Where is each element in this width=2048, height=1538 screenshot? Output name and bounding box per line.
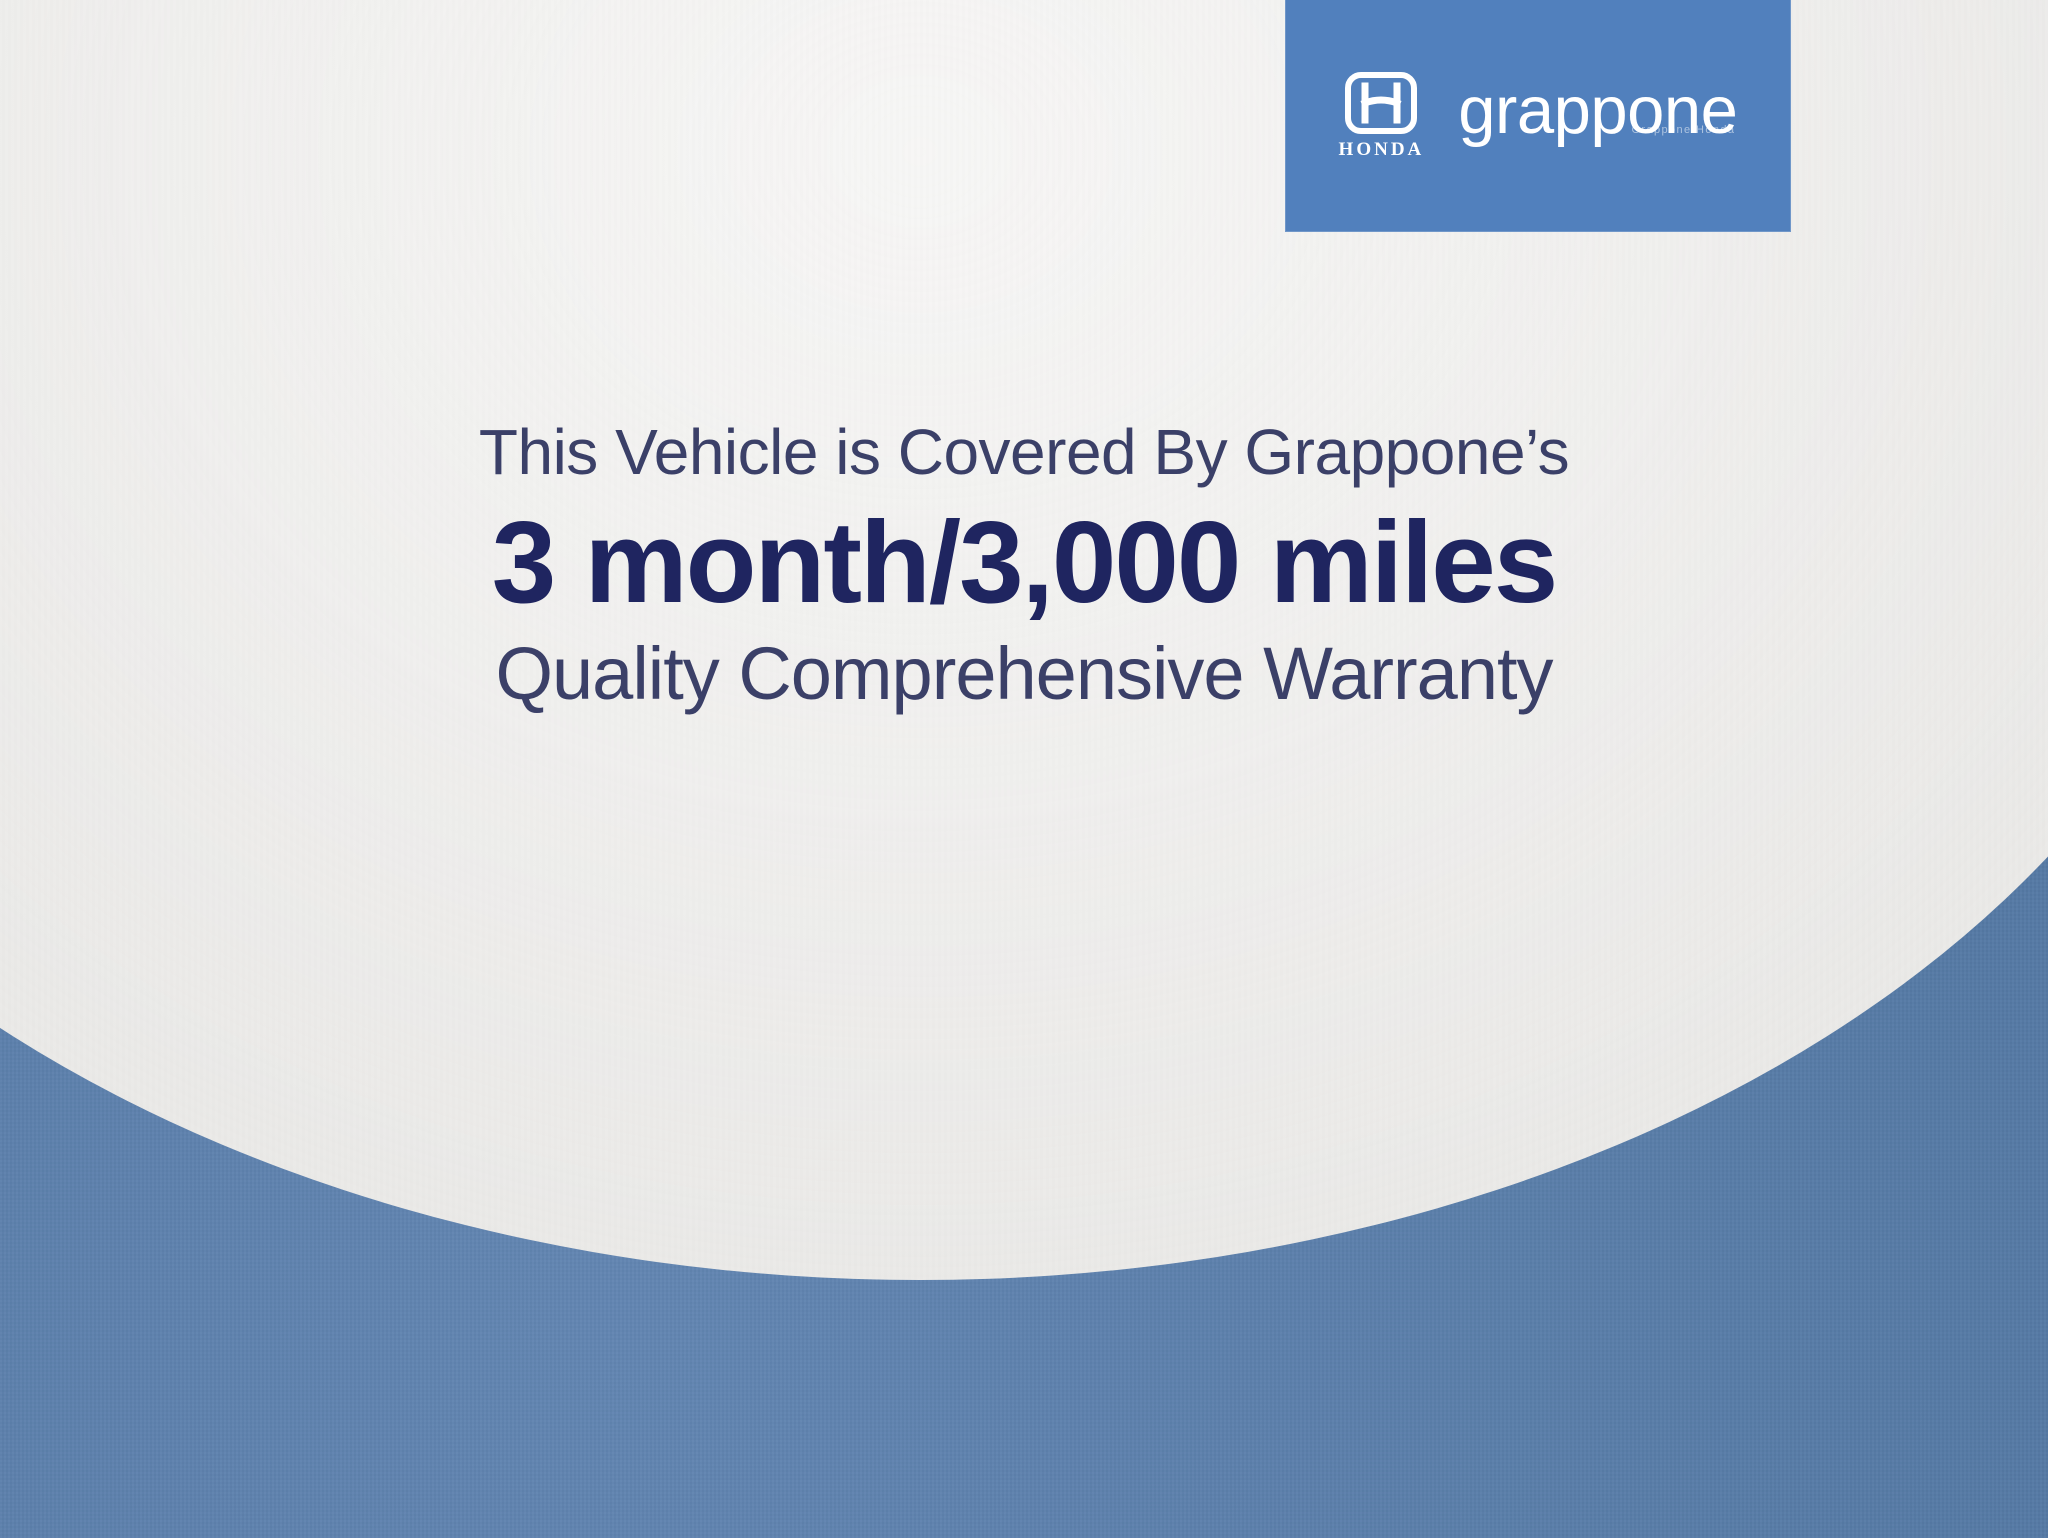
message-footline: Quality Comprehensive Warranty	[60, 634, 1988, 714]
grappone-brand-mark: grappone Grappone Honda	[1458, 80, 1737, 142]
dealer-logo-badge: HONDA grappone Grappone Honda	[1285, 0, 1791, 232]
warranty-banner: HONDA grappone Grappone Honda This Vehic…	[0, 0, 2048, 1538]
honda-brand-mark: HONDA	[1339, 72, 1425, 159]
warranty-message-block: This Vehicle is Covered By Grappone’s 3 …	[0, 418, 2048, 714]
message-headline: 3 month/3,000 miles	[60, 501, 1988, 624]
honda-wordmark: HONDA	[1339, 140, 1425, 159]
honda-h-logo-icon	[1345, 72, 1417, 134]
message-eyebrow: This Vehicle is Covered By Grappone’s	[60, 418, 1988, 487]
grappone-tagline: Grappone Honda	[1631, 124, 1735, 136]
